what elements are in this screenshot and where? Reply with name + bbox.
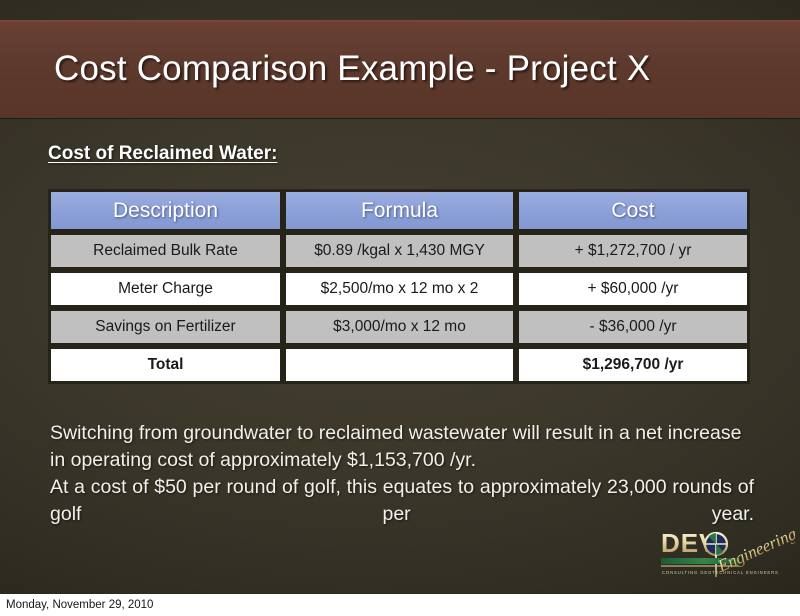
column-header-cost: Cost (516, 189, 750, 232)
footer-date: Monday, November 29, 2010 (6, 599, 153, 611)
cell-formula: $0.89 /kgal x 1,430 MGY (283, 232, 516, 270)
column-header-description: Description (48, 189, 283, 232)
cell-formula (283, 346, 516, 384)
footer-bar: Monday, November 29, 2010 (0, 594, 800, 616)
cell-formula: $2,500/mo x 12 mo x 2 (283, 270, 516, 308)
cost-table: Description Formula Cost Reclaimed Bulk … (48, 189, 750, 384)
page-title: Cost Comparison Example - Project X (54, 49, 650, 89)
table-row-total: Total $1,296,700 /yr (48, 346, 750, 384)
cell-cost: $1,296,700 /yr (516, 346, 750, 384)
table-row: Savings on Fertilizer $3,000/mo x 12 mo … (48, 308, 750, 346)
cell-description: Total (48, 346, 283, 384)
slide-canvas: Cost Comparison Example - Project X Cost… (0, 0, 800, 616)
body-copy: Switching from groundwater to reclaimed … (50, 420, 754, 555)
column-header-formula: Formula (283, 189, 516, 232)
title-band: Cost Comparison Example - Project X (0, 20, 800, 118)
logo-artwork: DEV CONSULTING GEOTECHNICAL ENGINEERS En… (655, 522, 795, 588)
table-row: Meter Charge $2,500/mo x 12 mo x 2 + $60… (48, 270, 750, 308)
crosshair-icon (705, 533, 727, 555)
devo-engineering-logo: DEV CONSULTING GEOTECHNICAL ENGINEERS En… (655, 522, 795, 588)
section-subtitle: Cost of Reclaimed Water: (48, 143, 277, 165)
table-header-row: Description Formula Cost (48, 189, 750, 232)
cell-description: Savings on Fertilizer (48, 308, 283, 346)
paragraph-one: Switching from groundwater to reclaimed … (50, 420, 754, 474)
cell-cost: - $36,000 /yr (516, 308, 750, 346)
cell-formula: $3,000/mo x 12 mo (283, 308, 516, 346)
cell-description: Meter Charge (48, 270, 283, 308)
table-row: Reclaimed Bulk Rate $0.89 /kgal x 1,430 … (48, 232, 750, 270)
cell-cost: + $60,000 /yr (516, 270, 750, 308)
paragraph-two: At a cost of $50 per round of golf, this… (50, 474, 754, 555)
cell-description: Reclaimed Bulk Rate (48, 232, 283, 270)
cell-cost: + $1,272,700 / yr (516, 232, 750, 270)
